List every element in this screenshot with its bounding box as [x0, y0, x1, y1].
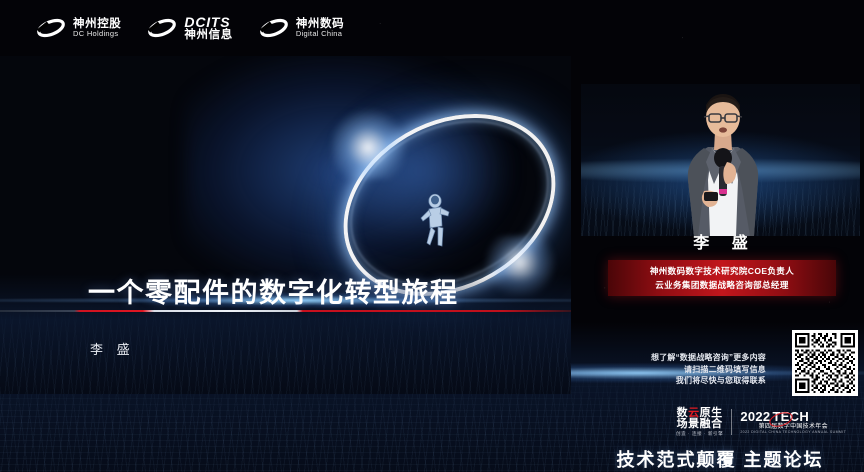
qr-line-2: 请扫描二维码填写信息	[651, 364, 766, 376]
logo-dcits-cn: 神州信息	[184, 29, 232, 41]
forum-title: 技术范式颠覆 主题论坛	[576, 446, 864, 472]
slide-grid-overlay	[0, 302, 571, 394]
qr-instruction-text: 想了解“数据战略咨询”更多内容 请扫描二维码填写信息 我们将尽快与您取得联系	[651, 352, 766, 387]
event-logo: 数云原生 场景融合 创造 · 连接 · 新引擎 2022 TECH 第四届数字中…	[676, 408, 846, 437]
logo-digital-china: 神州数码 Digital China	[259, 17, 344, 39]
ring-flare-top-icon	[332, 109, 412, 179]
logo-digital-china-en: Digital China	[296, 30, 344, 38]
swoosh-icon	[147, 17, 177, 39]
presentation-slide: 一个零配件的数字化转型旅程 李 盛	[0, 56, 571, 394]
swoosh-icon	[36, 17, 66, 39]
qr-contact-block: 想了解“数据战略咨询”更多内容 请扫描二维码填写信息 我们将尽快与您取得联系	[608, 330, 858, 400]
title-underline-rule	[0, 310, 571, 312]
top-logo-bar: 神州控股 DC Holdings DCITS 神州信息 神州数码 Digital…	[0, 0, 864, 56]
qr-code-image	[795, 333, 855, 393]
event-logo-slogan: 数云原生 场景融合 创造 · 连接 · 新引擎	[676, 408, 723, 437]
astronaut-ring-graphic	[330, 111, 570, 291]
logo-dcits: DCITS 神州信息	[147, 15, 232, 42]
speaker-name: 李 盛	[581, 229, 860, 253]
slide-title: 一个零配件的数字化转型旅程	[88, 271, 459, 310]
event-name-cn: 第四届数字中国技术年会	[740, 424, 846, 430]
speaker-title-line-2: 云业务集团数据战略咨询部总经理	[655, 279, 789, 291]
event-name-en: 2022 DIGITAL CHINA TECHNOLOGY ANNUAL SUM…	[740, 431, 846, 435]
event-logo-main: 2022 TECH 第四届数字中国技术年会 2022 DIGITAL CHINA…	[740, 410, 846, 435]
logo-dcits-en: DCITS	[184, 15, 232, 30]
event-slogan-line-2: 场景融合	[676, 419, 723, 430]
event-year: 2022	[740, 410, 770, 424]
logo-dc-holdings: 神州控股 DC Holdings	[36, 17, 121, 39]
event-logo-divider	[731, 409, 732, 435]
speaker-title-line-1: 神州数码数字技术研究院COE负责人	[650, 265, 794, 277]
qr-line-1: 想了解“数据战略咨询”更多内容	[651, 352, 766, 364]
event-footer-bar: 数云原生 场景融合 创造 · 连接 · 新引擎 2022 TECH 第四届数字中…	[576, 404, 864, 472]
speaker-title-banner: 神州数码数字技术研究院COE负责人 云业务集团数据战略咨询部总经理	[608, 260, 836, 296]
speaker-video-feed[interactable]	[581, 84, 860, 236]
swoosh-icon	[259, 17, 289, 39]
speaker-figure	[664, 88, 782, 236]
logo-dc-holdings-en: DC Holdings	[73, 30, 121, 38]
qr-line-3: 我们将尽快与您取得联系	[651, 375, 766, 387]
event-slogan-sub: 创造 · 连接 · 新引擎	[676, 432, 723, 437]
event-tech: TECH	[772, 410, 809, 424]
slide-speaker-name: 李 盛	[90, 339, 135, 358]
screen-stage: 神州控股 DC Holdings DCITS 神州信息 神州数码 Digital…	[0, 0, 864, 472]
qr-code[interactable]	[792, 330, 858, 396]
event-year-tech: 2022 TECH	[740, 410, 846, 424]
astronaut-icon	[418, 193, 452, 255]
